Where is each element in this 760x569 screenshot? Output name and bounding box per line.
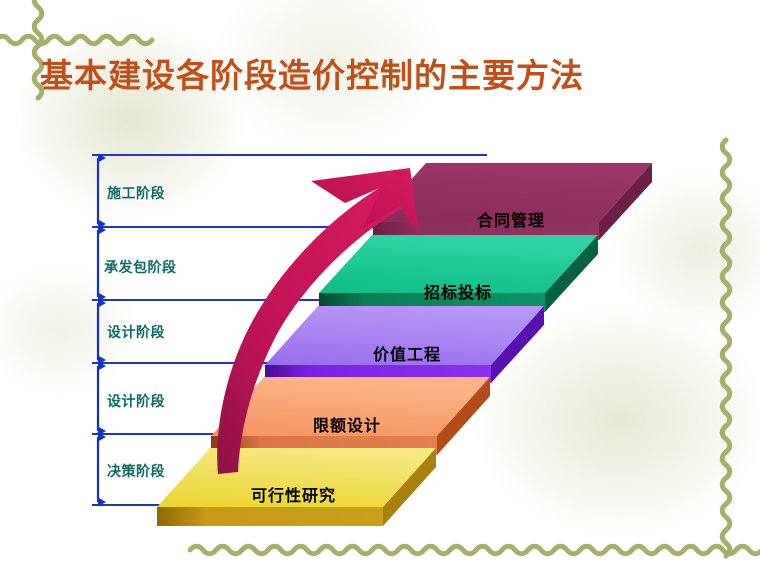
step-label-value-engineering: 价值工程 [373,341,441,365]
step-label-bidding-tendering: 招标投标 [424,279,492,303]
step-label-limit-design: 限额设计 [313,412,381,436]
stage-label-design-2: 设计阶段 [107,391,165,411]
stage-label-design-1: 设计阶段 [107,322,165,342]
step-label-contract-management: 合同管理 [477,207,545,231]
step-1-front-face [157,507,383,526]
step-label-feasibility-study: 可行性研究 [251,482,336,506]
stage-cost-control-staircase-diagram [0,0,760,569]
slide-canvas: 基本建设各阶段造价控制的主要方法 [0,0,760,569]
stage-label-contracting: 承发包阶段 [104,257,177,277]
stage-label-construction: 施工阶段 [107,183,165,203]
stage-label-decision: 决策阶段 [107,461,165,481]
